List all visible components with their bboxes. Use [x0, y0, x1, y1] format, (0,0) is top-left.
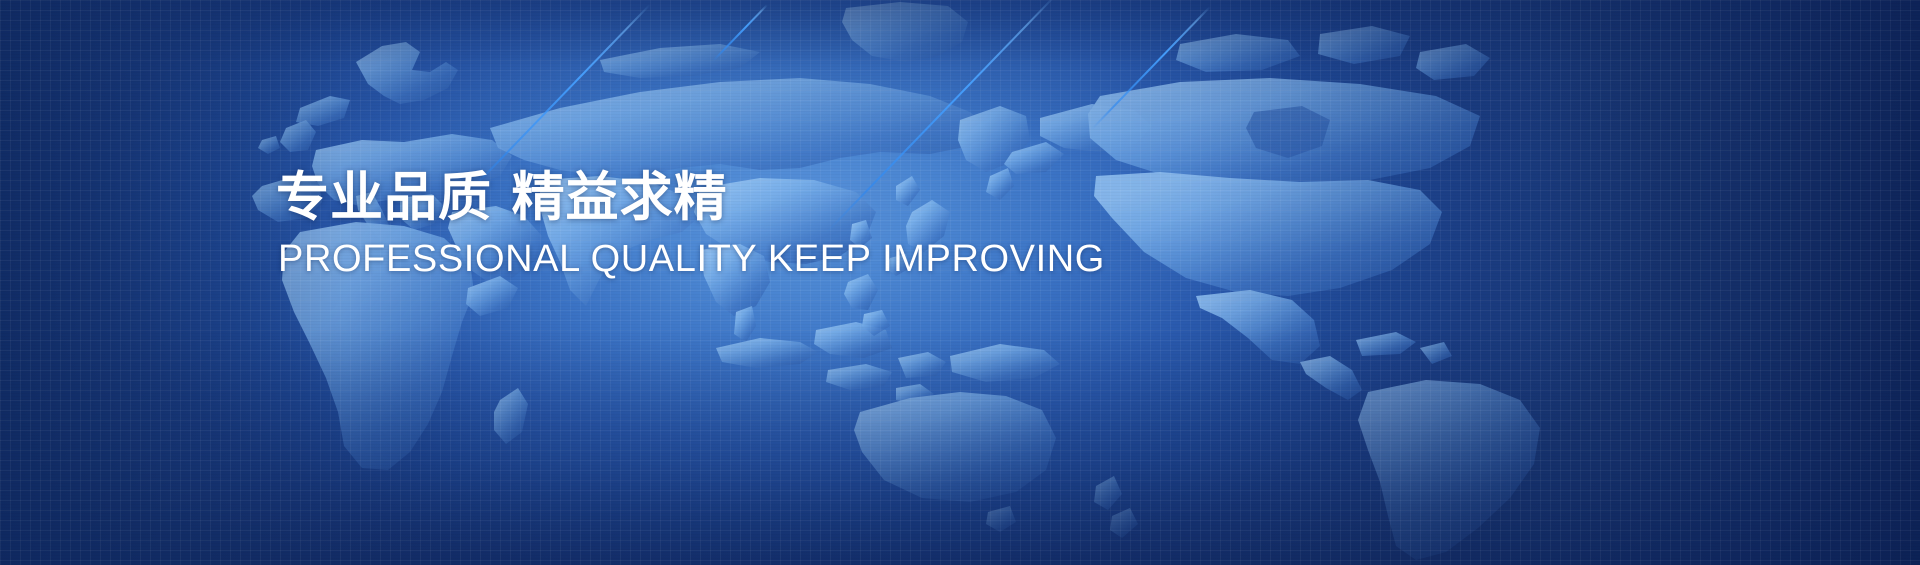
hero-banner: 专业品质 精益求精 PROFESSIONAL QUALITY KEEP IMPR… — [0, 0, 1920, 565]
world-map-graphic — [0, 0, 1920, 565]
landmass-group — [252, 2, 1540, 560]
banner-headline-chinese: 专业品质 精益求精 — [276, 170, 1105, 226]
banner-text-block: 专业品质 精益求精 PROFESSIONAL QUALITY KEEP IMPR… — [276, 170, 1105, 280]
banner-subheadline-english: PROFESSIONAL QUALITY KEEP IMPROVING — [278, 240, 1105, 280]
